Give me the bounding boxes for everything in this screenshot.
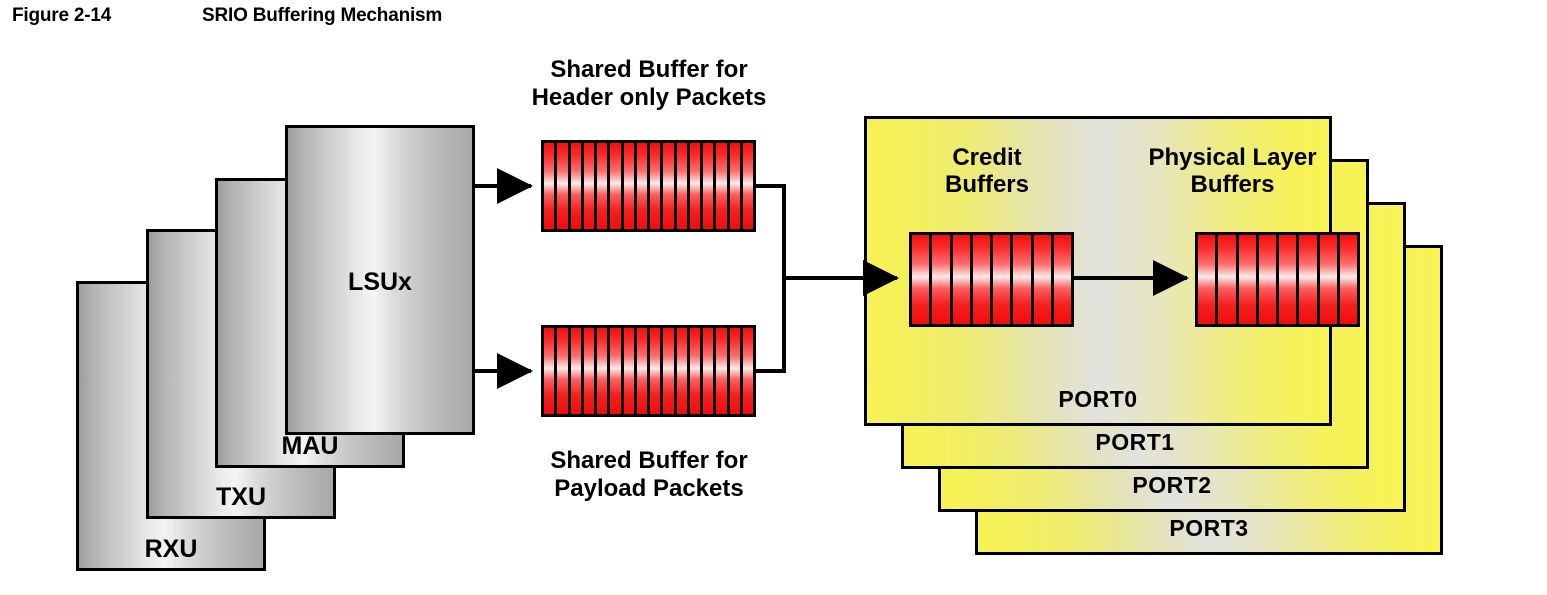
buffer-cell: [624, 328, 634, 414]
buffer-cell: [716, 143, 726, 229]
buffer-cell: [557, 143, 567, 229]
wire-header-buffer-merge: [756, 186, 784, 278]
buffer-cell: [953, 235, 970, 324]
buffer-cell: [571, 143, 581, 229]
buffer-cell: [743, 143, 753, 229]
buffer-cell: [743, 328, 753, 414]
buffer-cell: [690, 143, 700, 229]
buffer-cell: [650, 328, 660, 414]
buffer-cell: [973, 235, 990, 324]
port-label-port3: PORT3: [978, 515, 1440, 542]
unit-label-rxu: RXU: [79, 535, 263, 564]
shared-buffer-header-title: Shared Buffer for Header only Packets: [499, 56, 799, 111]
figure-caption: Figure 2-14SRIO Buffering Mechanism: [12, 5, 442, 27]
buffer-cell: [1034, 235, 1051, 324]
buffer-cell: [544, 328, 554, 414]
buffer-cell: [544, 143, 554, 229]
buffer-cell: [1054, 235, 1071, 324]
buffer-cell: [610, 143, 620, 229]
unit-label-lsux: LSUx: [288, 268, 472, 297]
buffer-cell: [1299, 235, 1316, 324]
figure-title: SRIO Buffering Mechanism: [202, 5, 442, 26]
port-label-port1: PORT1: [904, 429, 1366, 456]
buffer-cell: [557, 328, 567, 414]
unit-label-txu: TXU: [149, 483, 333, 512]
buffer-cell: [993, 235, 1010, 324]
buffer-cell: [1320, 235, 1337, 324]
buffer-cell: [730, 328, 740, 414]
buffer-cell: [1239, 235, 1256, 324]
buffer-cell: [1218, 235, 1235, 324]
buffer-cell: [912, 235, 929, 324]
unit-box-lsux[interactable]: LSUx: [285, 125, 475, 435]
buffer-cell: [716, 328, 726, 414]
buffer-cell: [690, 328, 700, 414]
shared-buffer-payload-title: Shared Buffer for Payload Packets: [499, 447, 799, 502]
buffer-cell: [663, 328, 673, 414]
buffer-cell: [1340, 235, 1357, 324]
port-label-port2: PORT2: [941, 472, 1403, 499]
physical-layer-buffers-title: Physical Layer Buffers: [1125, 145, 1340, 199]
buffer-cell: [584, 143, 594, 229]
physical-layer-buffers-array[interactable]: [1195, 232, 1360, 327]
buffer-cell: [663, 143, 673, 229]
port-label-port0: PORT0: [867, 386, 1329, 413]
buffer-cell: [730, 143, 740, 229]
credit-buffers-array[interactable]: [909, 232, 1074, 327]
buffer-cell: [597, 328, 607, 414]
buffer-cell: [610, 328, 620, 414]
unit-label-mau: MAU: [218, 432, 402, 461]
shared-buffer-payload-array[interactable]: [541, 325, 756, 417]
buffer-cell: [650, 143, 660, 229]
buffer-cell: [637, 328, 647, 414]
buffer-cell: [703, 143, 713, 229]
buffer-cell: [1259, 235, 1276, 324]
buffer-cell: [703, 328, 713, 414]
figure-number: Figure 2-14: [12, 5, 202, 27]
buffer-cell: [1013, 235, 1030, 324]
buffer-cell: [932, 235, 949, 324]
buffer-cell: [677, 328, 687, 414]
buffer-cell: [584, 328, 594, 414]
buffer-cell: [1198, 235, 1215, 324]
buffer-cell: [624, 143, 634, 229]
buffer-cell: [677, 143, 687, 229]
wire-payload-buffer-merge: [756, 278, 784, 371]
credit-buffers-title: Credit Buffers: [887, 145, 1087, 199]
figure-canvas: Figure 2-14SRIO Buffering Mechanism PORT…: [0, 0, 1547, 595]
port-box-port0[interactable]: Credit Buffers Physical Layer Buffers PO…: [864, 116, 1332, 426]
buffer-cell: [571, 328, 581, 414]
buffer-cell: [1279, 235, 1296, 324]
buffer-cell: [597, 143, 607, 229]
shared-buffer-header-array[interactable]: [541, 140, 756, 232]
buffer-cell: [637, 143, 647, 229]
